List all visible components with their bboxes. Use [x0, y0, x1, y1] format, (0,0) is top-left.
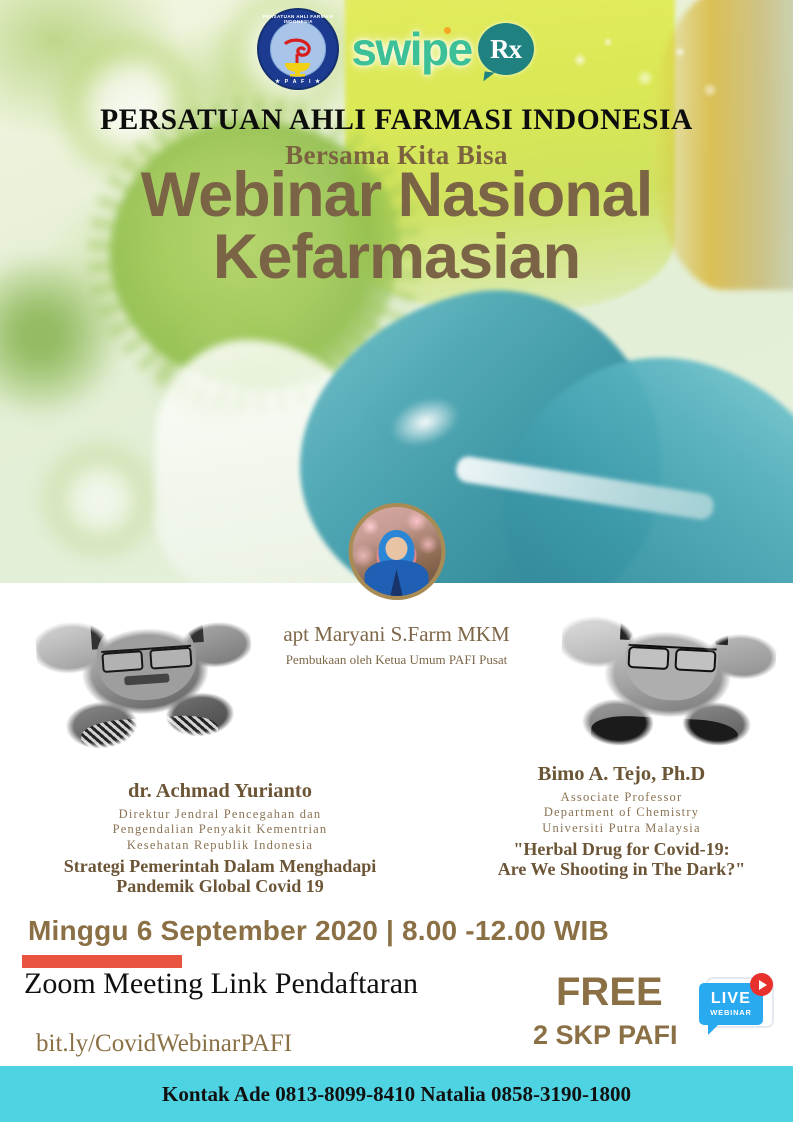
live-text: LIVE	[711, 991, 751, 1007]
logo-row: PERSATUAN AHLI FARMASI INDONESIA ★ P A F…	[0, 8, 793, 90]
speaker-name: Bimo A. Tejo, Ph.D	[450, 763, 793, 786]
pafi-logo-inner	[270, 21, 326, 77]
webinar-poster: PERSATUAN AHLI FARMASI INDONESIA ★ P A F…	[0, 0, 793, 1122]
speaker-topic: Strategi Pemerintah Dalam Menghadapi Pan…	[0, 856, 440, 896]
affiliation-line: Department of Chemistry	[450, 805, 793, 820]
speaker-photo-mask	[32, 578, 259, 773]
main-title-line1: Webinar Nasional	[141, 160, 652, 230]
host-role: Pembukaan oleh Ketua Umum PAFI Pusat	[0, 652, 793, 668]
play-button-icon	[750, 973, 773, 996]
main-title-line2: Kefarmasian	[0, 228, 793, 288]
webinar-text: WEBINAR	[710, 1008, 751, 1017]
live-webinar-badge: LIVE WEBINAR	[697, 975, 775, 1037]
swipe-text: swipe	[351, 23, 471, 75]
bowl-of-hygieia-icon	[280, 37, 316, 77]
speaker-affiliation: Direktur Jendral Pencegahan dan Pengenda…	[0, 807, 440, 853]
virus-blob-decoration	[40, 440, 160, 560]
topic-line: Are We Shooting in The Dark?"	[450, 859, 793, 879]
host-avatar	[348, 503, 445, 600]
speaker-photo-mask	[555, 582, 779, 773]
free-badge-label: FREE	[556, 970, 663, 1015]
swipe-wordmark: swipe	[351, 22, 471, 76]
pafi-ring-bottom-text: ★ P A F I ★	[259, 79, 337, 85]
organization-title: PERSATUAN AHLI FARMASI INDONESIA	[0, 104, 793, 137]
topic-line: Pandemik Global Covid 19	[0, 876, 440, 896]
affiliation-line: Kesehatan Republik Indonesia	[0, 838, 440, 853]
affiliation-line: Universiti Putra Malaysia	[450, 821, 793, 836]
affiliation-line: Associate Professor	[450, 790, 793, 805]
speaker-affiliation: Associate Professor Department of Chemis…	[450, 790, 793, 836]
skp-badge-label: 2 SKP PAFI	[533, 1020, 678, 1051]
speaker-photo-bimo-tejo	[555, 582, 779, 773]
affiliation-line: Pengendalian Penyakit Kementrian	[0, 822, 440, 837]
main-title: Webinar Nasional Kefarmasian	[0, 166, 793, 288]
speaker-info-right: Bimo A. Tejo, Ph.D Associate Professor D…	[450, 763, 793, 879]
topic-line: "Herbal Drug for Covid-19:	[450, 839, 793, 859]
pafi-logo: PERSATUAN AHLI FARMASI INDONESIA ★ P A F…	[259, 10, 337, 88]
speaker-photo-achmad-yurianto	[32, 578, 259, 773]
contact-text: Kontak Ade 0813-8099-8410 Natalia 0858-3…	[162, 1082, 631, 1107]
contact-bar: Kontak Ade 0813-8099-8410 Natalia 0858-3…	[0, 1066, 793, 1122]
swiperx-logo: swipe Rx	[351, 22, 533, 76]
registration-link[interactable]: bit.ly/CovidWebinarPAFI	[36, 1030, 292, 1058]
host-photo	[352, 507, 441, 596]
registration-label: Zoom Meeting Link Pendaftaran	[24, 967, 418, 1001]
host-name: apt Maryani S.Farm MKM	[0, 622, 793, 647]
affiliation-line: Direktur Jendral Pencegahan dan	[0, 807, 440, 822]
topic-line: Strategi Pemerintah Dalam Menghadapi	[0, 856, 440, 876]
rx-speech-bubble-icon: Rx	[478, 23, 534, 75]
schedule-line: Minggu 6 September 2020 | 8.00 -12.00 WI…	[28, 915, 609, 947]
pafi-ring-top-text: PERSATUAN AHLI FARMASI INDONESIA	[259, 14, 337, 24]
rx-text: Rx	[490, 36, 521, 63]
speaker-info-left: dr. Achmad Yurianto Direktur Jendral Pen…	[0, 780, 440, 896]
speaker-name: dr. Achmad Yurianto	[0, 780, 440, 803]
batik-shirt-shape	[80, 713, 221, 769]
speaker-topic: "Herbal Drug for Covid-19: Are We Shooti…	[450, 839, 793, 879]
